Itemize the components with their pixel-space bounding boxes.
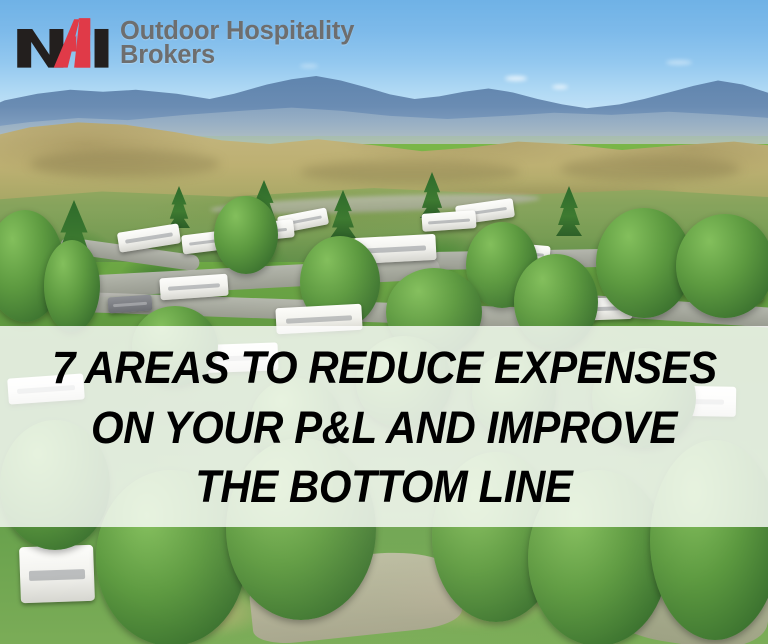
rv-vehicle [19,545,95,604]
hero-title-line-3: THE BOTTOM LINE [195,457,572,516]
rv-vehicle [421,210,476,232]
hero-title-overlay: 7 AREAS TO REDUCE EXPENSES ON YOUR P&L A… [0,326,768,527]
blog-header-graphic: Outdoor Hospitality Brokers 7 AREAS TO R… [0,0,768,644]
nai-outdoor-hospitality-brokers-logo[interactable]: Outdoor Hospitality Brokers [14,17,354,71]
tree [676,214,768,318]
hero-title-line-1: 7 AREAS TO REDUCE EXPENSES [52,338,717,397]
cloud [552,85,568,89]
parked-car [107,294,152,313]
cloud [666,60,692,65]
logo-wordmark-line-2: Brokers [120,43,354,67]
hill-shadow [560,156,740,182]
hero-title-line-2: ON YOUR P&L AND IMPROVE [91,398,677,457]
hero-photo [0,0,768,644]
rv-vehicle [159,274,228,301]
logo-wordmark: Outdoor Hospitality Brokers [120,19,354,68]
nai-logo-icon [14,17,116,71]
tree [214,196,278,274]
tree [44,240,100,332]
hill-shadow [30,150,220,178]
logo-wordmark-line-1: Outdoor Hospitality [120,19,354,43]
hill-shadow [300,160,520,184]
cloud [505,76,527,81]
